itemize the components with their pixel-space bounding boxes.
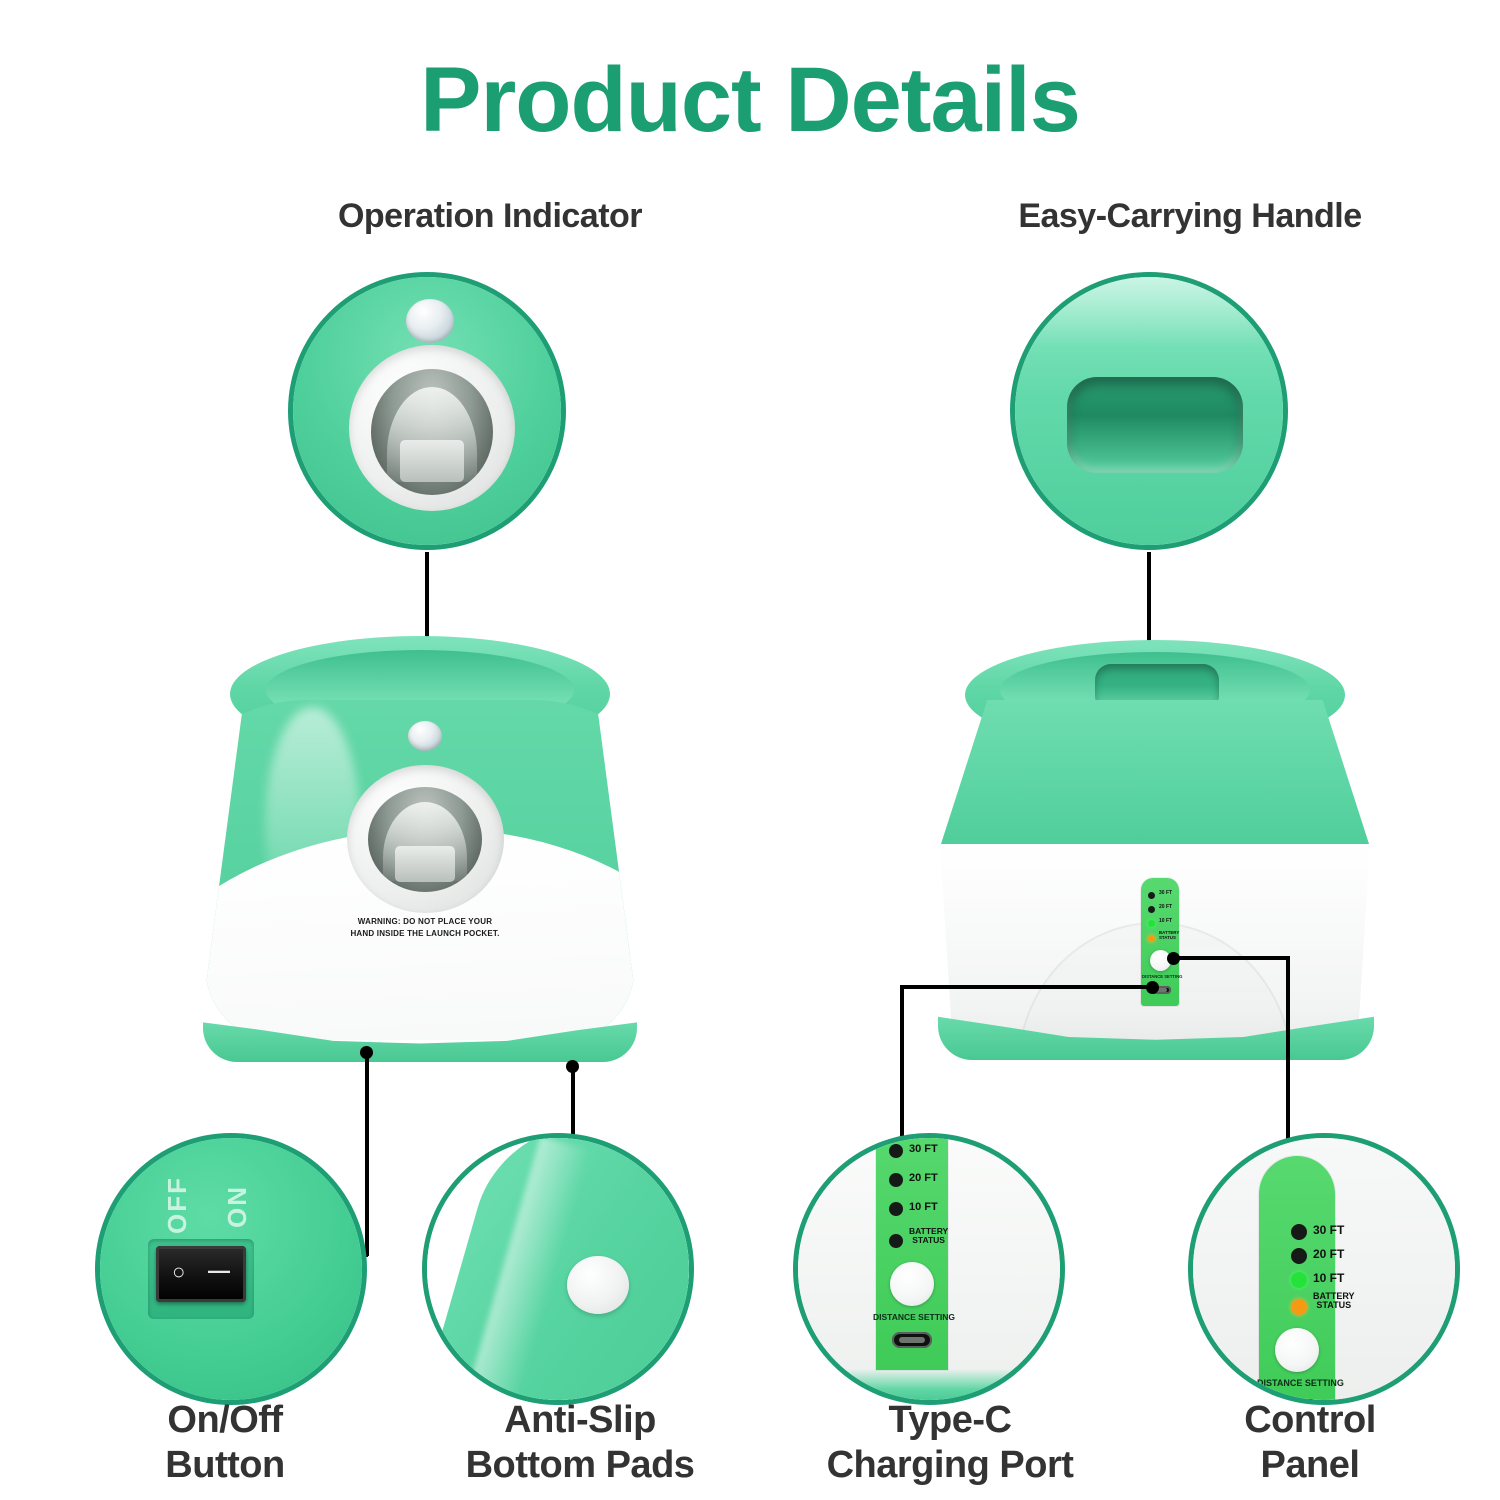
led-20ft-panel [1291,1248,1307,1264]
launch-pocket-hole-zoom [371,369,493,495]
warning-line-2: HAND INSIDE THE LAUNCH POCKET. [300,928,550,940]
led-label-30ft-zoom: 30 FT [909,1144,938,1156]
caption-onoff-button: On/Off Button [60,1398,390,1488]
caption-type-c-port: Type-C Charging Port [760,1398,1140,1488]
distance-setting-label: DISTANCE SETTING [1142,975,1182,979]
motion-sensor-dome [408,721,442,751]
distance-setting-label-panel: DISTANCE SETTING [1257,1379,1344,1388]
led-10ft-panel [1291,1272,1307,1288]
led-30ft-panel [1291,1224,1307,1240]
switch-off-label: OFF [162,1176,193,1234]
led-battery-status-panel [1291,1299,1307,1315]
motion-sensor-dome-zoom [406,299,454,343]
infographic-canvas: Product Details Operation Indicator Easy… [0,0,1500,1500]
callout-circle-type-c-port: 30 FT 20 FT 10 FT BATTERY STATUS DISTANC… [793,1133,1065,1405]
callout-circle-carrying-handle [1010,272,1288,550]
led-label-battery-status-zoom: BATTERY STATUS [909,1227,948,1245]
caption-pads-line2: Bottom Pads [390,1443,770,1488]
switch-on-label: ON [222,1185,253,1228]
callout-circle-control-panel: 30 FT 20 FT 10 FT BATTERY STATUS DISTANC… [1188,1133,1460,1405]
led-label-30ft: 30 FT [1159,891,1172,896]
launch-wheel [400,440,463,483]
caption-onoff-line1: On/Off [60,1398,390,1443]
heading-easy-carrying-handle: Easy-Carrying Handle [800,197,1500,236]
led-30ft [1148,892,1155,899]
led-label-battery-status: BATTERY STATUS [1159,931,1179,940]
led-10ft-zoom [889,1202,903,1216]
distance-setting-button-panel[interactable] [1275,1328,1319,1372]
control-panel-strip-typec-zoom[interactable]: 30 FT 20 FT 10 FT BATTERY STATUS DISTANC… [876,1133,948,1370]
distance-setting-label-zoom: DISTANCE SETTING [873,1313,955,1322]
led-label-10ft-zoom: 10 FT [909,1202,938,1214]
led-20ft [1148,906,1155,913]
led-10ft [1148,920,1155,927]
caption-panel-line1: Control [1145,1398,1475,1443]
led-battery-status [1148,935,1155,942]
led-label-30ft-panel: 30 FT [1313,1224,1344,1237]
caption-control-panel: Control Panel [1145,1398,1475,1488]
page-title: Product Details [0,52,1500,149]
led-label-10ft: 10 FT [1159,919,1172,924]
caption-panel-line2: Panel [1145,1443,1475,1488]
caption-pads-line1: Anti-Slip [390,1398,770,1443]
led-label-20ft-zoom: 20 FT [909,1173,938,1185]
caption-onoff-line2: Button [60,1443,390,1488]
callout-circle-anti-slip-pads [422,1133,694,1405]
anti-slip-pad [567,1256,629,1314]
body-back-green-top [940,700,1370,847]
distance-setting-button-zoom[interactable] [890,1262,934,1306]
led-label-20ft: 20 FT [1159,905,1172,910]
battery-label-line2: STATUS [1159,936,1179,941]
caption-anti-slip-pads: Anti-Slip Bottom Pads [390,1398,770,1488]
switch-off-symbol: ○ [172,1259,185,1285]
control-panel-strip-zoom[interactable]: 30 FT 20 FT 10 FT BATTERY STATUS DISTANC… [1259,1156,1335,1405]
led-label-10ft-panel: 10 FT [1313,1272,1344,1285]
battery-label-line2-panel: STATUS [1313,1301,1355,1310]
callout-circle-onoff-button: OFF ON ○ — [95,1133,367,1405]
led-battery-status-zoom [889,1234,903,1248]
callout-circle-operation-indicator [288,272,566,550]
connector-onoff-vertical [365,1052,369,1256]
connector-panel-horizontal [1172,956,1290,960]
launch-pocket-hole [368,787,482,892]
led-20ft-zoom [889,1173,903,1187]
led-30ft-zoom [889,1144,903,1158]
battery-label-line2-zoom: STATUS [909,1236,948,1245]
handle-recess-zoom [1067,377,1243,473]
type-c-charging-port-zoom[interactable] [892,1332,932,1348]
warning-line-1: WARNING: DO NOT PLACE YOUR [300,916,550,928]
connector-typec-horizontal [900,985,1150,989]
power-rocker-switch[interactable]: ○ — [156,1246,246,1302]
led-label-20ft-panel: 20 FT [1313,1248,1344,1261]
switch-on-symbol: — [208,1258,230,1284]
caption-typec-line1: Type-C [760,1398,1140,1443]
launch-wheel-front [395,846,454,882]
led-label-battery-status-panel: BATTERY STATUS [1313,1292,1355,1311]
heading-operation-indicator: Operation Indicator [120,197,860,236]
warning-text: WARNING: DO NOT PLACE YOUR HAND INSIDE T… [300,916,550,940]
caption-typec-line2: Charging Port [760,1443,1140,1488]
